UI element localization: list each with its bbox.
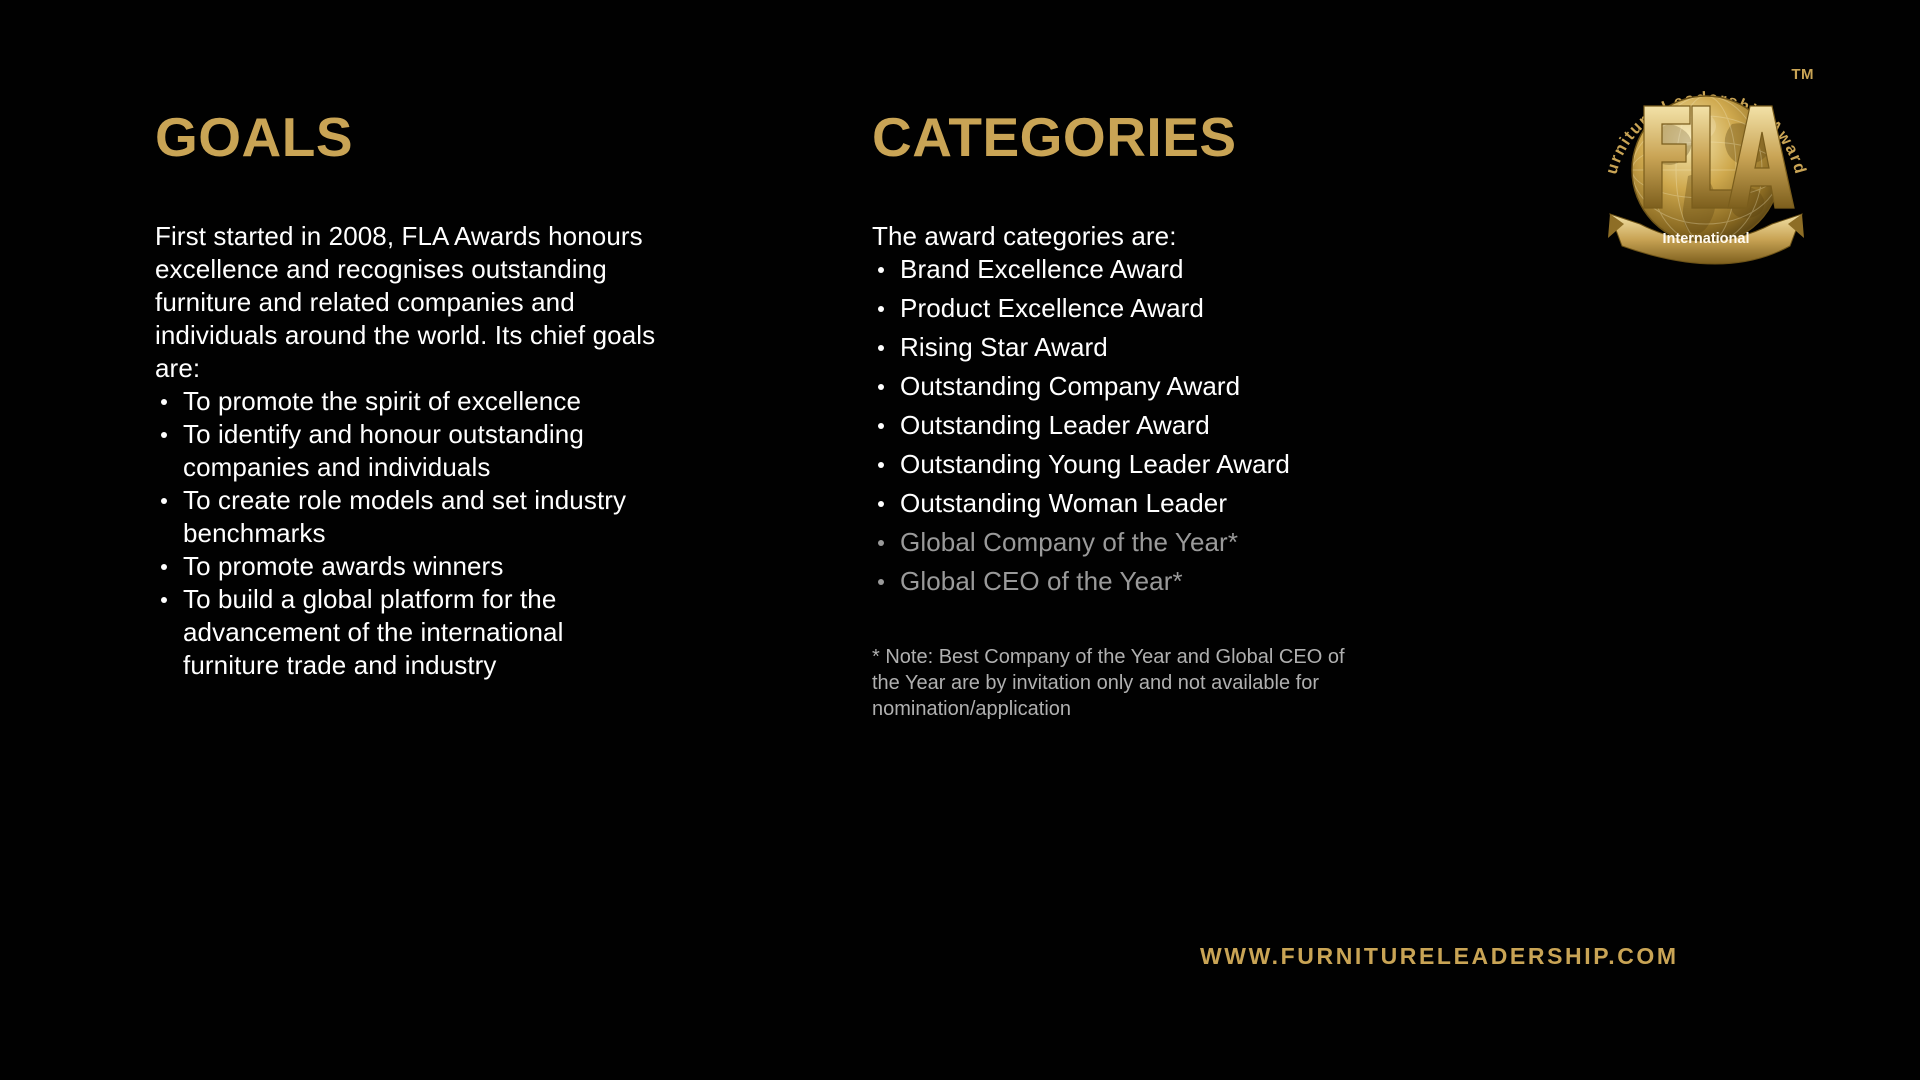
list-item: To promote awards winners <box>155 550 655 583</box>
categories-heading: CATEGORIES <box>872 110 1512 165</box>
fla-logo-graphic: Furniture Leadership Awards <box>1592 48 1820 276</box>
list-item: Product Excellence Award <box>872 292 1472 325</box>
slide-root: GOALS First started in 2008, FLA Awards … <box>0 0 1920 1080</box>
list-item: Global CEO of the Year* <box>872 565 1472 598</box>
fla-logo: Furniture Leadership Awards <box>1592 48 1820 276</box>
list-item: To identify and honour outstanding compa… <box>155 418 655 484</box>
website-url[interactable]: WWW.FURNITURELEADERSHIP.COM <box>1200 943 1679 970</box>
list-item: Brand Excellence Award <box>872 253 1472 286</box>
list-item: To build a global platform for the advan… <box>155 583 655 682</box>
list-item: Outstanding Woman Leader <box>872 487 1472 520</box>
list-item: Outstanding Leader Award <box>872 409 1472 442</box>
list-item: Outstanding Company Award <box>872 370 1472 403</box>
list-item: Outstanding Young Leader Award <box>872 448 1472 481</box>
goals-list: To promote the spirit of excellence To i… <box>155 385 655 682</box>
trademark-symbol: TM <box>1791 66 1814 83</box>
list-item: Global Company of the Year* <box>872 526 1472 559</box>
list-item: To create role models and set industry b… <box>155 484 655 550</box>
categories-column: CATEGORIES The award categories are: Bra… <box>872 110 1512 742</box>
goals-heading: GOALS <box>155 110 715 165</box>
categories-intro-text: The award categories are: <box>872 220 1472 253</box>
categories-footnote: * Note: Best Company of the Year and Glo… <box>872 644 1372 722</box>
goals-column: GOALS First started in 2008, FLA Awards … <box>155 110 715 682</box>
categories-list: Brand Excellence Award Product Excellenc… <box>872 253 1472 598</box>
list-item: Rising Star Award <box>872 331 1472 364</box>
goals-intro-text: First started in 2008, FLA Awards honour… <box>155 220 695 385</box>
list-item: To promote the spirit of excellence <box>155 385 655 418</box>
logo-ribbon-text: International <box>1662 231 1749 247</box>
